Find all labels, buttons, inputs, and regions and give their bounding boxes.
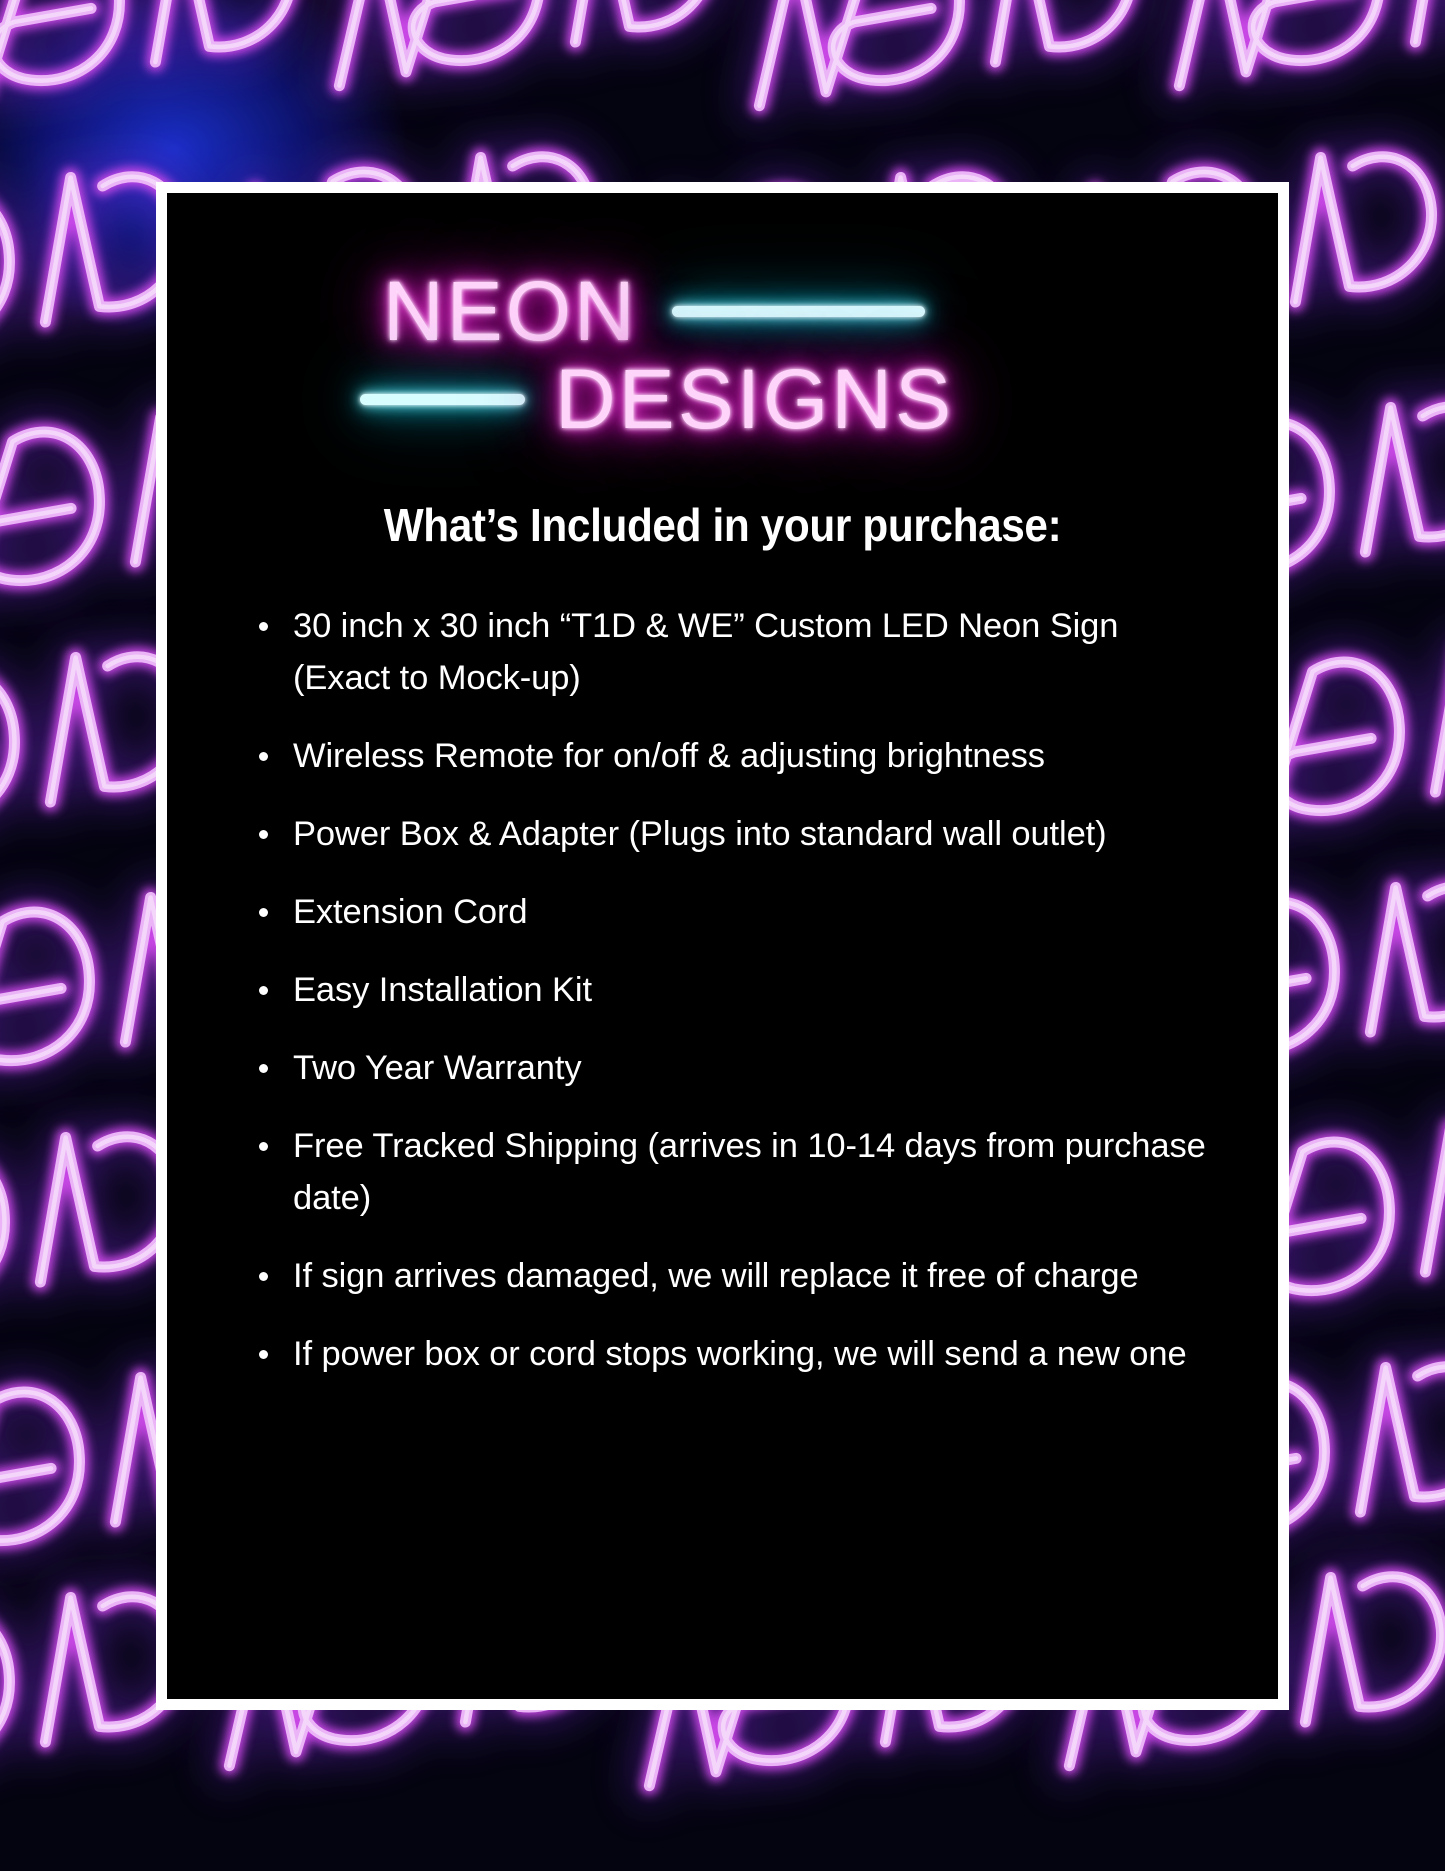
logo-line-designs: DESIGNS (360, 351, 954, 448)
included-items-list: 30 inch x 30 inch “T1D & WE” Custom LED … (251, 600, 1212, 1380)
neon-designs-logo: NEON DESIGNS (167, 241, 1278, 476)
list-item: 30 inch x 30 inch “T1D & WE” Custom LED … (251, 600, 1212, 704)
logo-word-neon: NEON (383, 263, 638, 360)
list-item: Free Tracked Shipping (arrives in 10-14 … (251, 1120, 1212, 1224)
list-item: If power box or cord stops working, we w… (251, 1328, 1212, 1380)
logo-word-designs: DESIGNS (555, 351, 954, 448)
list-item: Wireless Remote for on/off & adjusting b… (251, 730, 1212, 782)
cyan-neon-bar-bottom-icon (360, 394, 525, 405)
list-item: Power Box & Adapter (Plugs into standard… (251, 808, 1212, 860)
list-item: Two Year Warranty (251, 1042, 1212, 1094)
cyan-neon-bar-top-icon (672, 306, 925, 317)
page-title: What’s Included in your purchase: (211, 498, 1233, 552)
list-item: If sign arrives damaged, we will replace… (251, 1250, 1212, 1302)
list-item: Extension Cord (251, 886, 1212, 938)
product-info-card: NEON DESIGNS What’s Included in your pur… (167, 193, 1278, 1699)
logo-line-neon: NEON (383, 263, 925, 360)
card-white-border: NEON DESIGNS What’s Included in your pur… (156, 182, 1289, 1710)
list-item: Easy Installation Kit (251, 964, 1212, 1016)
